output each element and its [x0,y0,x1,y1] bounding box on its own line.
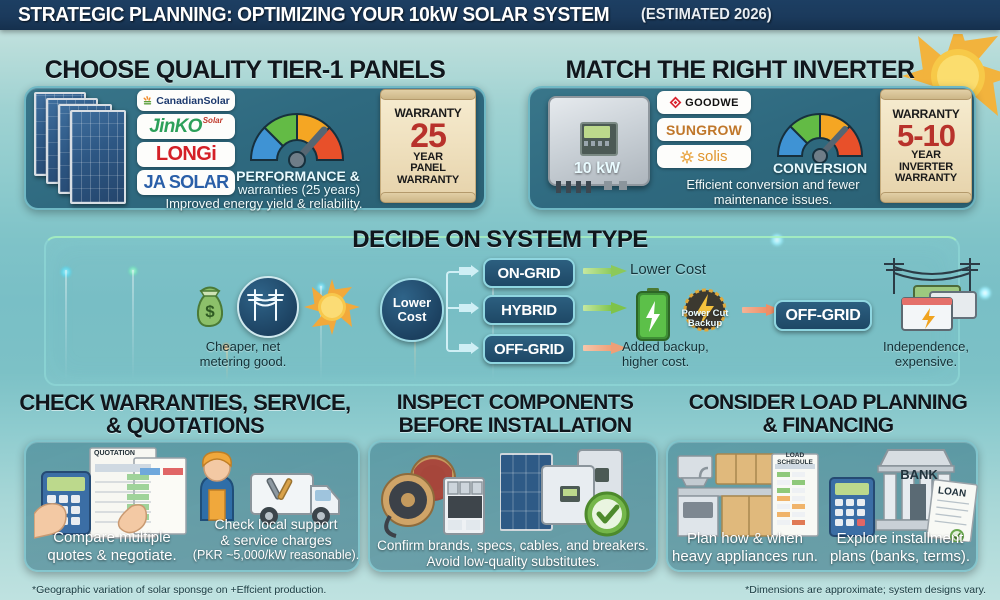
scroll-roll-bottom [880,192,972,203]
brand-label: JA SOLAR [144,172,229,193]
load-caption-right: Explore installment plans (banks, terms)… [822,530,978,565]
branch-arrow-icon [459,342,481,354]
section-heading-components-l2: BEFORE INSTALLATION [372,415,658,436]
goodwe-diamond-icon [669,96,682,109]
warranties-caption-left: Compare multiple quotes & negotiate. [28,529,196,564]
warranty-lines: YEAR INVERTER WARRANTY [895,150,957,185]
header-bar: STRATEGIC PLANNING: OPTIMIZING YOUR 10kW… [0,0,1000,30]
lower-cost-node: Lower Cost [380,278,444,342]
solis-sun-icon [680,150,694,164]
section-heading-warranties-l2: & QUOTATIONS [10,415,360,437]
section-heading-components-l1: INSPECT COMPONENTS [372,392,658,413]
footer-note-left: *Geographic variation of solar sponsge o… [32,584,326,596]
battery-icon [635,288,671,342]
battery-bank-icon [878,254,996,338]
performance-gauge-icon [243,102,351,168]
brand-sup-label: Solar [203,116,223,125]
caption-line: Avoid low-quality substitutes. [370,554,656,570]
cable-breaker-illustration [378,448,506,540]
brand-chip-jasolar[interactable]: JA SOLAR [137,170,235,195]
brand-label: JinKO [149,116,201,138]
branch-arrow-icon [459,265,481,277]
panels-caption: Improved energy yield & reliability. [140,197,388,212]
outcome-lower-cost: Lower Cost [630,262,740,279]
caption-line: (PKR ~5,000/kW reasonable). [190,548,362,563]
warranty-lines: YEAR PANEL WARRANTY [397,152,459,187]
system-type-hybrid[interactable]: HYBRID [483,295,575,325]
caption-line: Explore installment [822,530,978,548]
page-title: STRATEGIC PLANNING: OPTIMIZING YOUR 10kW… [18,4,609,27]
offgrid-caption: Independence, expensive. [860,340,992,369]
caption-line: heavy appliances run. [666,548,824,566]
conversion-gauge-icon [770,103,870,163]
brand-label: SUNGROW [666,122,742,138]
hybrid-caption-text: Added backup, higher cost. [622,339,709,369]
inverter-connector [556,181,596,193]
section-heading-load-l1: CONSIDER LOAD PLANNING [668,392,988,413]
section-heading-load-l2: & FINANCING [668,415,988,436]
system-type-offgrid[interactable]: OFF-GRID [483,334,575,364]
conversion-label: CONVERSION [762,160,878,176]
brand-label: GOODWE [685,97,739,109]
load-caption-left: Plan how & when heavy appliances run. [666,530,824,565]
brand-chip-solis[interactable]: solis [657,145,751,168]
inverter-caption: Efficient conversion and fewer maintenan… [662,178,884,207]
inverter-connector [604,181,634,190]
brand-chip-longi[interactable]: LONGi [137,142,235,167]
section-heading-inverter: MATCH THE RIGHT INVERTER [520,58,960,83]
section-heading-system-type: DECIDE ON SYSTEM TYPE [300,228,700,252]
section-heading-warranties-l1: CHECK WARRANTIES, SERVICE, [10,392,360,414]
caption-line: Compare multiple [28,529,196,547]
lower-cost-label: Lower Cost [393,296,431,323]
caption-line: & service charges [190,532,362,548]
brand-chip-canadiansolar[interactable]: CanadianSolar [137,90,235,111]
flow-arrow-green [583,265,627,277]
brand-chip-goodwe[interactable]: GOODWE [657,91,751,114]
components-caption: Confirm brands, specs, cables, and break… [370,538,656,570]
bank-label: BANK [886,467,952,482]
inverter-warranty-scroll: WARRANTY 5-10 YEAR INVERTER WARRANTY [880,92,972,200]
caption-line: Check local support [190,516,362,532]
footer-note-right: *Dimensions are approximate; system desi… [745,584,986,596]
caption-line: quotes & negotiate. [28,547,196,565]
page-title-subtitle: (ESTIMATED 2026) [641,6,772,24]
solar-panel-icon [70,110,126,204]
section-heading-panels: CHOOSE QUALITY TIER-1 PANELS [20,58,470,83]
panel-warranty-scroll: WARRANTY 25 YEAR PANEL WARRANTY [380,92,476,200]
panel-inverter-check-illustration [500,448,636,540]
brand-label: LONGi [156,143,216,166]
flow-arrow-orange [583,342,627,354]
scroll-roll-bottom [380,192,476,203]
offgrid-outcome-pill[interactable]: OFF-GRID [774,300,872,331]
sun-leaf-icon [142,95,153,106]
hybrid-caption: Added backup, higher cost. [622,340,748,369]
brand-label: CanadianSolar [156,95,230,107]
power-cut-backup-label: Power Cut Backup [676,309,734,330]
brand-chip-jinko[interactable]: JinKO Solar [137,114,235,139]
gauge-label-rest: warranties (25 years) [224,182,374,197]
brand-chip-sungrow[interactable]: SUNGROW [657,118,751,141]
caption-line: plans (banks, terms). [822,548,978,566]
caption-line: Plan how & when [666,530,824,548]
system-type-ongrid[interactable]: ON-GRID [483,258,575,288]
ongrid-caption: Cheaper, net metering good. [182,340,304,369]
inverter-capacity-label: 10 kW [548,160,646,178]
inverter-buttons [584,141,610,146]
scroll-roll-top [880,89,972,100]
load-schedule-title: LOAD SCHEDULE [772,452,818,466]
flow-arrow-green [583,302,627,314]
infographic-canvas: STRATEGIC PLANNING: OPTIMIZING YOUR 10kW… [0,0,1000,600]
brand-label: solis [697,148,727,165]
scroll-roll-top [380,89,476,100]
warranties-caption-right: Check local support & service charges (P… [190,516,362,563]
warranty-value: 25 [410,120,446,152]
warranty-value: 5-10 [897,121,955,150]
money-bag-icon: $ [187,281,233,329]
branch-arrow-icon [459,302,481,314]
caption-line: Confirm brands, specs, cables, and break… [370,538,656,554]
utility-pole-icon [243,284,289,326]
quotation-doc-title: QUOTATION [94,450,154,457]
svg-text:$: $ [205,302,215,321]
inverter-lcd [584,126,610,138]
sun-icon [303,278,361,336]
